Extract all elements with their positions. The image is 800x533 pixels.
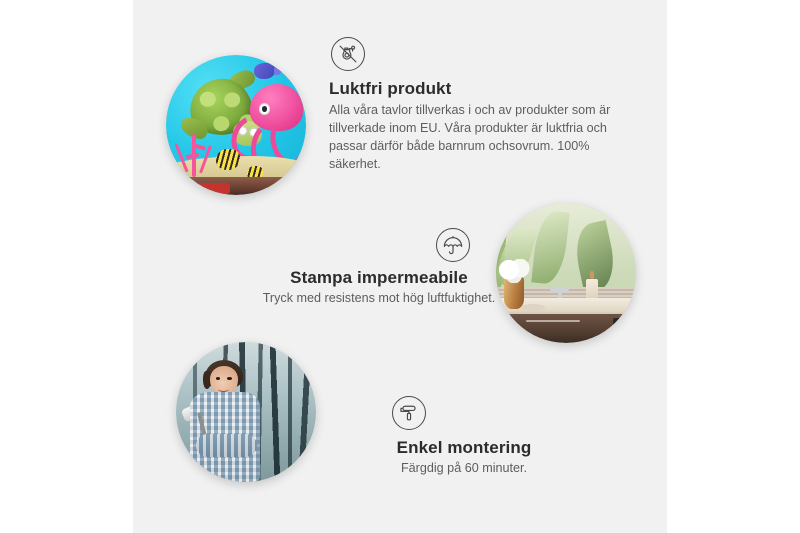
pink-coral xyxy=(174,131,216,177)
paint-roller-icon xyxy=(392,396,426,430)
content-panel: Luktfri produkt Alla våra tavlor tillver… xyxy=(133,0,667,533)
photo-clip xyxy=(176,342,316,482)
feature-title: Enkel montering xyxy=(329,438,599,458)
icon-row xyxy=(209,228,549,262)
feature-odour-free: Luktfri produkt Alla våra tavlor tillver… xyxy=(329,37,629,174)
icon-row xyxy=(329,396,599,430)
woman-crossed-arms xyxy=(196,434,258,456)
product-photo-underwater-kids-mural xyxy=(166,55,306,195)
woman-eye xyxy=(227,377,231,380)
wooden-vanity xyxy=(507,314,636,343)
feature-description: Färgdig på 60 minuter. xyxy=(329,460,599,478)
no-odour-perfume-icon xyxy=(331,37,365,71)
feature-description: Alla våra tavlor tillverkas i och av pro… xyxy=(329,102,629,174)
shipwreck-strip xyxy=(166,177,306,195)
umbrella-icon xyxy=(436,228,470,262)
feature-description: Tryck med resistens mot hög luftfuktighe… xyxy=(209,290,549,308)
feature-title: Stampa impermeabile xyxy=(209,268,549,288)
blue-fish xyxy=(254,63,275,78)
product-photo-painter-forest-mural xyxy=(176,342,316,482)
feature-title: Luktfri produkt xyxy=(329,79,629,99)
product-feature-infographic: Luktfri produkt Alla våra tavlor tillver… xyxy=(0,0,800,533)
feature-waterproof-print: Stampa impermeabile Tryck med resistens … xyxy=(209,228,549,308)
feature-easy-mounting: Enkel montering Färgdig på 60 minuter. xyxy=(329,396,599,478)
striped-fish xyxy=(216,149,240,170)
photo-clip xyxy=(166,55,306,195)
